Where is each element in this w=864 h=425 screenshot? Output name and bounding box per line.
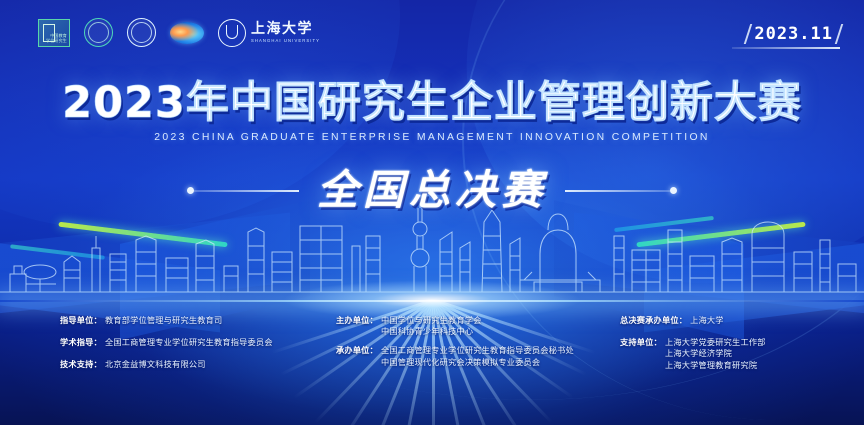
emblem-white-icon	[127, 18, 156, 47]
credit-value: 上海大学党委研究生工作部	[665, 338, 766, 346]
credit-entry: 技术支持： 北京金益博文科技有限公司	[60, 360, 350, 368]
credit-value: 教育部学位管理与研究生教育司	[105, 316, 222, 324]
credit-entry: 支持单位： 上海大学党委研究生工作部	[620, 338, 860, 346]
swirl-icon	[170, 22, 204, 44]
credit-entry: 学术指导： 全国工商管理专业学位研究生教育指导委员会	[60, 338, 350, 346]
credits-column-2: 主办单位： 中国学位与研究生教育学会 主办单位： 中国科协青少年科技中心 承办单…	[336, 316, 636, 371]
shanghai-university-logo: 上海大学 SHANGHAI UNIVERSITY	[218, 19, 320, 47]
credit-entry: 指导单位： 教育部学位管理与研究生教育司	[60, 316, 350, 324]
page-title: 2023年中国研究生企业管理创新大赛	[0, 82, 864, 125]
credit-entry-continuation: 支持单位： 上海大学管理教育研究院	[620, 361, 860, 369]
credit-label: 总决赛承办单位：	[620, 316, 687, 324]
swirl-logo	[170, 22, 204, 44]
shanghai-university-name-cn: 上海大学	[251, 22, 320, 36]
credit-value: 全国工商管理专业学位研究生教育指导委员会	[105, 338, 273, 346]
credit-value: 上海大学管理教育研究院	[665, 361, 757, 369]
page-title-english: 2023 CHINA GRADUATE ENTERPRISE MANAGEMEN…	[0, 132, 864, 143]
date-underline	[732, 47, 840, 49]
cdgdc-icon: 中国教育学位研究生	[38, 19, 70, 47]
shanghai-university-name-en: SHANGHAI UNIVERSITY	[251, 38, 320, 43]
credit-value: 中国科协青少年科技中心	[381, 327, 473, 335]
emblem-green-logo	[84, 18, 113, 47]
subtitle-row: 全国总决赛	[0, 168, 864, 213]
credit-entry-continuation: 承办单位： 中国管理现代化研究会决策模拟专业委员会	[336, 358, 636, 366]
sponsor-logo-bar: 中国教育学位研究生 上海大学 SHANGHAI UNIVERSITY	[38, 18, 320, 47]
horizon-core-glow	[282, 280, 582, 320]
shanghai-university-icon	[218, 19, 246, 47]
credits-column-3: 总决赛承办单位： 上海大学 支持单位： 上海大学党委研究生工作部 支持单位： 上…	[620, 316, 860, 374]
credit-label: 学术指导：	[60, 338, 102, 346]
credit-value: 上海大学经济学院	[665, 349, 732, 357]
page-subtitle: 全国总决赛	[317, 168, 547, 213]
cdgdc-logo: 中国教育学位研究生	[38, 19, 70, 47]
credit-value: 上海大学	[690, 316, 724, 324]
decorative-line-right	[565, 190, 670, 192]
credit-entry: 承办单位： 全国工商管理专业学位研究生教育指导委员会秘书处	[336, 346, 636, 354]
date-text: 2023.11	[754, 24, 833, 44]
credit-entry: 总决赛承办单位： 上海大学	[620, 316, 860, 324]
credit-value: 中国管理现代化研究会决策模拟专业委员会	[381, 358, 540, 366]
cdgdc-logo-text: 中国教育学位研究生	[46, 34, 67, 43]
credit-entry-continuation: 支持单位： 上海大学经济学院	[620, 349, 860, 357]
decorative-line-left	[194, 190, 299, 192]
credit-label: 指导单位：	[60, 316, 102, 324]
poster-canvas: 中国教育学位研究生 上海大学 SHANGHAI UNIVERSITY 2023.…	[0, 0, 864, 425]
credit-value: 北京金益博文科技有限公司	[105, 360, 206, 368]
date-badge: 2023.11	[747, 24, 840, 44]
credit-entry: 主办单位： 中国学位与研究生教育学会	[336, 316, 636, 324]
credit-entry-continuation: 主办单位： 中国科协青少年科技中心	[336, 327, 636, 335]
credits-column-1: 指导单位： 教育部学位管理与研究生教育司 学术指导： 全国工商管理专业学位研究生…	[60, 316, 350, 374]
credit-label: 技术支持：	[60, 360, 102, 368]
credit-label: 支持单位：	[620, 338, 662, 346]
emblem-green-icon	[84, 18, 113, 47]
credit-value: 中国学位与研究生教育学会	[381, 316, 482, 324]
credit-label: 主办单位：	[336, 316, 378, 324]
credit-value: 全国工商管理专业学位研究生教育指导委员会秘书处	[381, 346, 574, 354]
credits-block: 指导单位： 教育部学位管理与研究生教育司 学术指导： 全国工商管理专业学位研究生…	[0, 316, 864, 408]
credit-label: 承办单位：	[336, 346, 378, 354]
emblem-white-logo	[127, 18, 156, 47]
